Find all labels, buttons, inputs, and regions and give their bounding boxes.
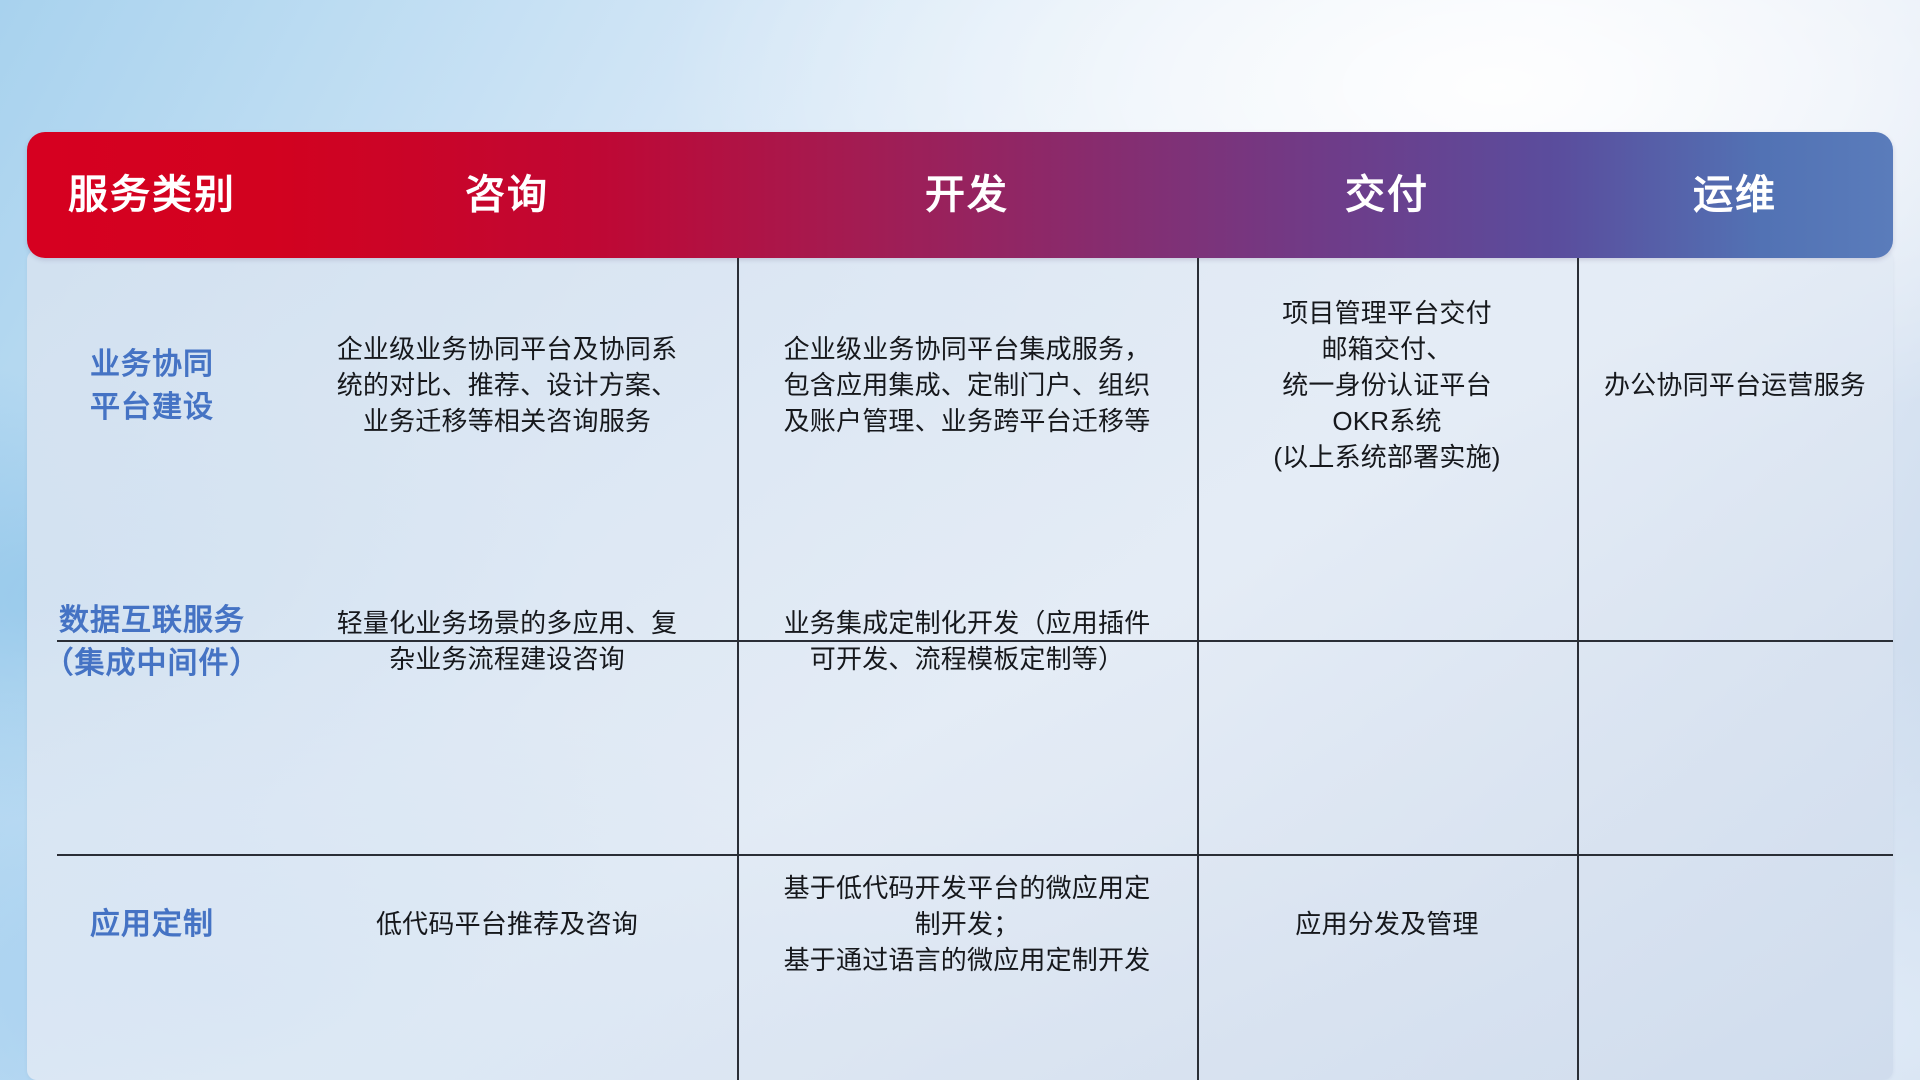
row-label-business-collaboration: 业务协同 平台建设 [90,343,214,430]
cell-row0-development: 企业级业务协同平台集成服务， 包含应用集成、定制门户、组织 及账户管理、业务跨平… [737,258,1197,514]
header-cell-operations: 运维 [1577,175,1893,215]
row-label-app-customization: 应用定制 [90,903,214,947]
cell-row2-development: 基于低代码开发平台的微应用定 制开发； 基于通过语言的微应用定制开发 [737,770,1197,1080]
cell-text: 基于低代码开发平台的微应用定 制开发； 基于通过语言的微应用定制开发 [784,871,1151,979]
cell-text: 低代码平台推荐及咨询 [376,907,638,943]
cell-row2-delivery: 应用分发及管理 [1197,770,1577,1080]
header-cell-consulting: 咨询 [277,175,737,215]
cell-row1-delivery [1197,514,1577,770]
cell-text: 办公协同平台运营服务 [1604,368,1866,404]
cell-text: 轻量化业务场景的多应用、复 杂业务流程建设咨询 [337,606,678,678]
header-cell-delivery: 交付 [1197,175,1577,215]
cell-row1-development: 业务集成定制化开发（应用插件 可开发、流程模板定制等） [737,514,1197,770]
cell-row0-operations: 办公协同平台运营服务 [1577,258,1893,514]
cell-row2-consulting: 低代码平台推荐及咨询 [277,770,737,1080]
cell-text: 企业级业务协同平台集成服务， 包含应用集成、定制门户、组织 及账户管理、业务跨平… [784,332,1151,440]
row-divider-1 [57,640,1893,642]
table-row: 应用定制 [27,770,277,1080]
row-divider-2 [57,854,1893,856]
column-divider-2 [1197,258,1199,1080]
column-divider-1 [737,258,739,1080]
header-cell-service-category: 服务类别 [27,175,277,215]
row-label-data-interconnect: 数据互联服务 （集成中间件） [44,599,261,686]
service-category-table: 服务类别 咨询 开发 交付 运维 业务协同 平台建设 企业级业务协同平台及协同系… [27,132,1893,950]
header-cell-development: 开发 [737,175,1197,215]
cell-text: 企业级业务协同平台及协同系 统的对比、推荐、设计方案、 业务迁移等相关咨询服务 [337,332,678,440]
column-divider-3 [1577,258,1579,1080]
cell-text: 项目管理平台交付 邮箱交付、 统一身份认证平台 OKR系统 (以上系统部署实施) [1273,296,1500,475]
cell-row0-consulting: 企业级业务协同平台及协同系 统的对比、推荐、设计方案、 业务迁移等相关咨询服务 [277,258,737,514]
cell-text: 应用分发及管理 [1295,907,1478,943]
cell-text: 业务集成定制化开发（应用插件 可开发、流程模板定制等） [784,606,1151,678]
table-row: 业务协同 平台建设 [27,258,277,514]
table-header-row: 服务类别 咨询 开发 交付 运维 [27,132,1893,258]
table-row: 数据互联服务 （集成中间件） [27,514,277,770]
cell-row2-operations [1577,770,1893,1080]
cell-row0-delivery: 项目管理平台交付 邮箱交付、 统一身份认证平台 OKR系统 (以上系统部署实施) [1197,258,1577,514]
cell-row1-consulting: 轻量化业务场景的多应用、复 杂业务流程建设咨询 [277,514,737,770]
cell-row1-operations [1577,514,1893,770]
table-grid: 业务协同 平台建设 企业级业务协同平台及协同系 统的对比、推荐、设计方案、 业务… [27,258,1893,1080]
